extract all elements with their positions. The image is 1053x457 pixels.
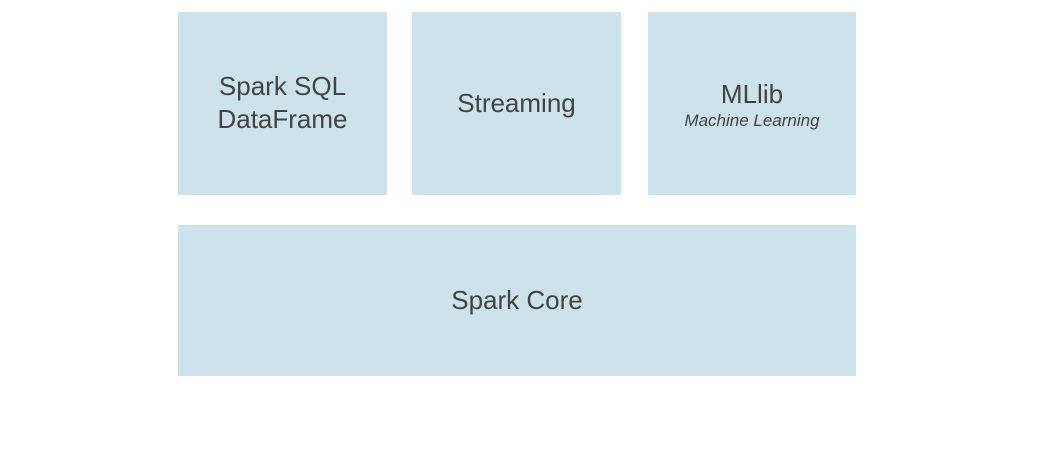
diagram-node-label: Streaming — [457, 87, 576, 120]
diagram-node-sublabel: Machine Learning — [684, 111, 819, 131]
diagram-node-spark-sql[interactable]: Spark SQL DataFrame — [178, 12, 387, 195]
diagram-node-label-line2: DataFrame — [217, 103, 347, 136]
diagram-node-label-line1: Spark SQL — [219, 70, 346, 103]
diagram-node-streaming[interactable]: Streaming — [412, 12, 621, 195]
diagram-node-spark-core[interactable]: Spark Core — [178, 225, 856, 376]
diagram-node-label: MLlib — [721, 78, 783, 111]
diagram-node-mllib[interactable]: MLlib Machine Learning — [648, 12, 856, 195]
diagram-node-label: Spark Core — [451, 284, 583, 317]
spark-stack-diagram: Spark SQL DataFrame Streaming MLlib Mach… — [0, 0, 1053, 457]
